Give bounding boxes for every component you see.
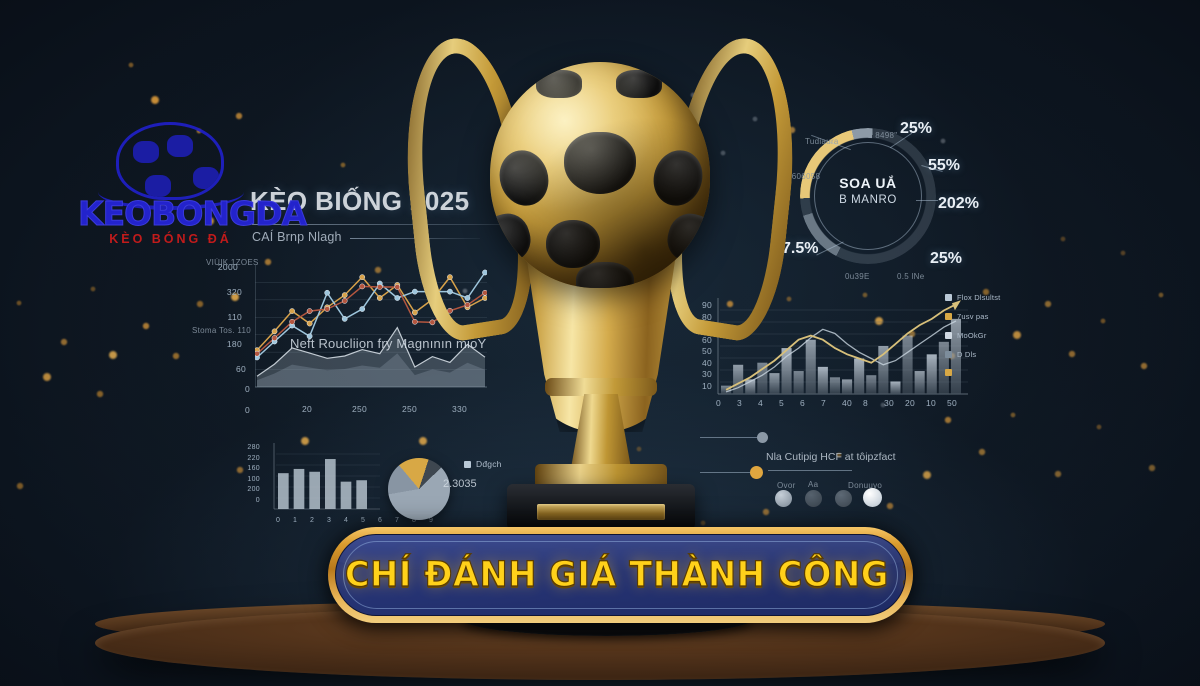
right-chart-legend-item: MoOkGr bbox=[945, 331, 987, 340]
donut-note-1: Tudiaura bbox=[805, 137, 839, 146]
left-chart-ytick: 110 bbox=[208, 312, 242, 322]
right-chart-xtick: 40 bbox=[842, 398, 852, 408]
trophy-plaque bbox=[537, 504, 665, 520]
chart-bottom-left-bars bbox=[262, 443, 380, 521]
bl-chart-svg bbox=[262, 443, 380, 521]
bl-chart-bar bbox=[278, 473, 289, 509]
bl-chart-ytick: 200 bbox=[240, 486, 260, 493]
keobongda-watermark-logo: KEOBONGDA KÈO BÓNG ĐÁ bbox=[78, 122, 263, 250]
title-banner: TIÊU CHÍ ĐÁNH GIÁ THÀNH CÔNG 2025 bbox=[328, 527, 913, 623]
bokeh-particle bbox=[1158, 292, 1164, 298]
bl-chart-ytick: 100 bbox=[240, 476, 260, 483]
bl-chart-xtick: 1 bbox=[293, 517, 297, 524]
donut-pct-202: 202% bbox=[938, 195, 979, 213]
bokeh-particle bbox=[978, 448, 986, 456]
bokeh-particle bbox=[42, 372, 52, 382]
bokeh-particle bbox=[172, 352, 180, 360]
bokeh-particle bbox=[944, 416, 952, 424]
left-chart-ytick: 0 bbox=[216, 405, 250, 415]
bokeh-particle bbox=[108, 350, 118, 360]
bl-chart-xtick: 3 bbox=[327, 517, 331, 524]
bokeh-particle bbox=[235, 112, 243, 120]
bl-chart-xtick: 4 bbox=[344, 517, 348, 524]
right-chart-legend-item: 7usv pas bbox=[945, 312, 989, 321]
trophy-collar bbox=[545, 378, 657, 396]
bl-chart-bar bbox=[356, 480, 367, 509]
bokeh-particle bbox=[1054, 470, 1062, 478]
legend-swatch bbox=[945, 332, 952, 339]
bl-chart-xtick: 0 bbox=[276, 517, 280, 524]
bokeh-particle bbox=[922, 470, 932, 480]
right-chart-legend-item bbox=[945, 369, 957, 376]
right-chart-bar bbox=[866, 375, 876, 394]
legend-swatch bbox=[945, 351, 952, 358]
right-chart-xtick: 10 bbox=[926, 398, 936, 408]
left-chart-ytick: 320 bbox=[208, 287, 242, 297]
bokeh-particle bbox=[1148, 464, 1156, 472]
br-dot-3 bbox=[835, 490, 852, 507]
bokeh-particle bbox=[16, 482, 24, 490]
left-chart-ytick: 0 bbox=[216, 384, 250, 394]
logo-tagline-text: KÈO BÓNG ĐÁ bbox=[78, 232, 263, 246]
left-chart-ytick: 2000 bbox=[204, 262, 238, 272]
right-chart-xtick: 8 bbox=[863, 398, 868, 408]
left-chart-xtick: 250 bbox=[352, 404, 367, 414]
bokeh-particle bbox=[90, 286, 96, 292]
title-banner-inner: TIÊU CHÍ ĐÁNH GIÁ THÀNH CÔNG 2025 bbox=[335, 534, 906, 616]
right-chart-xtick: 7 bbox=[821, 398, 826, 408]
bl-chart-ytick: 280 bbox=[240, 444, 260, 451]
hud-left-note-2: Stoma Tos. 110 bbox=[192, 326, 251, 335]
left-chart-ytick: 180 bbox=[208, 339, 242, 349]
legend-swatch bbox=[945, 369, 952, 376]
legend-label: 7usv pas bbox=[957, 312, 989, 321]
banner-title-text: TIÊU CHÍ ĐÁNH GIÁ THÀNH CÔNG 2025 bbox=[335, 555, 906, 595]
right-chart-xtick: 30 bbox=[884, 398, 894, 408]
bokeh-particle bbox=[1140, 362, 1148, 370]
bokeh-particle bbox=[1100, 318, 1106, 324]
right-chart-bar bbox=[903, 336, 913, 394]
bl-chart-bar bbox=[325, 459, 336, 509]
bokeh-particle bbox=[1044, 300, 1052, 308]
legend-label: D Dls bbox=[957, 350, 976, 359]
donut-leader-3 bbox=[916, 200, 938, 201]
right-chart-xtick: 20 bbox=[905, 398, 915, 408]
bl-chart-ytick: 160 bbox=[240, 465, 260, 472]
donut-note-3: 2 8498" bbox=[868, 131, 897, 140]
bokeh-particle bbox=[196, 300, 204, 308]
bokeh-particle bbox=[1068, 350, 1076, 358]
bl-chart-xtick: 6 bbox=[378, 517, 382, 524]
left-chart-xtick: 20 bbox=[302, 404, 312, 414]
right-chart-bar bbox=[806, 340, 816, 394]
bokeh-particle bbox=[1012, 330, 1022, 340]
legend-label: Flox Dlsultst bbox=[957, 293, 1000, 302]
bokeh-particle bbox=[1120, 250, 1126, 256]
right-chart-bar bbox=[842, 379, 852, 394]
bokeh-particle bbox=[886, 502, 894, 510]
trophy-soccer-ball bbox=[490, 62, 710, 288]
right-chart-xtick: 50 bbox=[947, 398, 957, 408]
bl-chart-bar bbox=[341, 482, 352, 509]
legend-swatch bbox=[945, 294, 952, 301]
bokeh-particle bbox=[150, 95, 160, 105]
bl-chart-bar bbox=[309, 472, 320, 509]
bl-chart-bar bbox=[294, 469, 305, 509]
bokeh-particle bbox=[1096, 424, 1102, 430]
bokeh-particle bbox=[142, 322, 150, 330]
right-chart-bar bbox=[854, 359, 864, 394]
right-chart-bar bbox=[890, 381, 900, 394]
donut-note-4: 0u39E bbox=[845, 272, 870, 281]
donut-center-label: SOA UẮ bbox=[800, 175, 936, 191]
bokeh-particle bbox=[60, 338, 68, 346]
br-dot-2 bbox=[805, 490, 822, 507]
bokeh-particle bbox=[16, 300, 22, 306]
bl-chart-xtick: 2 bbox=[310, 517, 314, 524]
donut-pct-25a: 25% bbox=[900, 120, 932, 138]
right-chart-bar bbox=[915, 371, 925, 394]
bokeh-particle bbox=[940, 138, 946, 144]
br-label-1: Aa bbox=[808, 480, 818, 489]
bl-chart-ytick: 0 bbox=[240, 497, 260, 504]
bl-chart-xtick: 5 bbox=[361, 517, 365, 524]
br-dot-4 bbox=[863, 488, 882, 507]
bokeh-particle bbox=[96, 390, 104, 398]
golden-soccer-trophy bbox=[395, 12, 805, 572]
donut-pct-55: 55% bbox=[928, 157, 960, 175]
logo-brand-text: KEOBONGDA bbox=[78, 194, 263, 233]
right-chart-bar bbox=[818, 367, 828, 394]
bl-chart-ytick: 220 bbox=[240, 455, 260, 462]
donut-note-5: 0.5 lNe bbox=[897, 272, 924, 281]
bokeh-particle bbox=[1010, 412, 1016, 418]
chart-donut: SOA UẮ B MANRO bbox=[800, 128, 936, 264]
right-chart-legend-item: D Dls bbox=[945, 350, 976, 359]
legend-swatch bbox=[945, 313, 952, 320]
right-chart-legend-item: Flox Dlsultst bbox=[945, 293, 1000, 302]
right-chart-bar bbox=[927, 354, 937, 394]
poster-canvas: KÈO BIỐNG 2025 CAÍ Brnp Nlagh VIÚIK 1ZOE… bbox=[0, 0, 1200, 686]
legend-label: MoOkGr bbox=[957, 331, 987, 340]
bokeh-particle bbox=[340, 162, 346, 168]
bokeh-particle bbox=[128, 62, 134, 68]
bokeh-particle bbox=[1060, 236, 1066, 242]
ball-shading bbox=[490, 62, 710, 288]
left-chart-ytick: 60 bbox=[212, 364, 246, 374]
donut-pct-25b: 25% bbox=[930, 250, 962, 268]
right-chart-bar bbox=[830, 377, 840, 394]
